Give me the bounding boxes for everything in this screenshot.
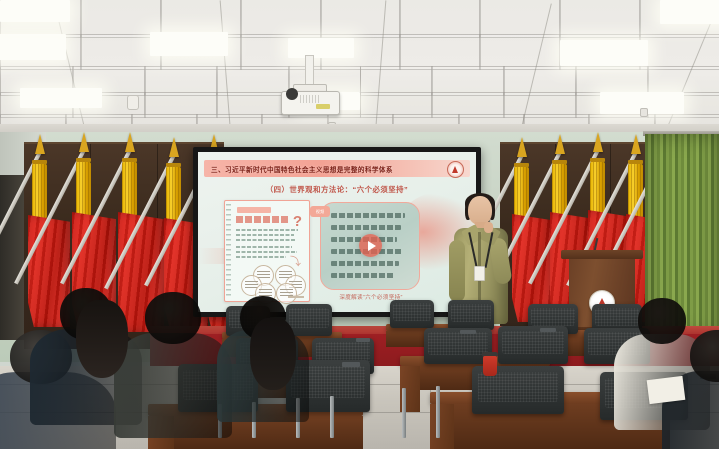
slide-header-bar: 三、习近平新时代中国特色社会主义思想是完整的科学体系 xyxy=(204,160,470,177)
notebook-credit xyxy=(288,296,304,298)
flag-spear-finial-icon xyxy=(79,132,89,152)
flag-spear-finial-icon xyxy=(631,134,641,154)
ceiling-tile xyxy=(479,34,561,70)
ceiling-light-panel xyxy=(660,0,719,24)
institution-emblem-icon xyxy=(447,161,464,178)
ceiling-light-panel xyxy=(0,0,70,22)
ceiling-tile xyxy=(399,0,481,38)
ceiling-light-panel xyxy=(150,32,228,56)
ceiling-light-panel xyxy=(0,34,66,60)
person-long-hair xyxy=(76,300,128,378)
slide-subtitle: （四）世界观和方法论：“六个必须坚持” xyxy=(198,184,476,195)
slide-notebook-graphic: ? ⤵ xyxy=(224,200,310,302)
projector-label xyxy=(316,104,330,109)
chair xyxy=(448,300,494,330)
flag-spear-finial-icon xyxy=(517,137,527,157)
chair-label-tab xyxy=(356,338,370,342)
chair-leg xyxy=(402,388,406,438)
person-torso xyxy=(114,333,232,438)
flag-gold-tassel xyxy=(590,162,605,218)
white-paper-sheet xyxy=(647,376,686,404)
ceiling-light-panel xyxy=(288,38,354,58)
ceiling-tile xyxy=(399,34,481,70)
play-icon[interactable] xyxy=(359,234,382,257)
projection-screen-frame: 三、习近平新时代中国特色社会主义思想是完整的科学体系 （四）世界观和方法论：“六… xyxy=(193,147,481,317)
notebook-tag xyxy=(237,207,271,213)
sprinkler-head-icon xyxy=(640,108,648,117)
chair-label-tab xyxy=(540,328,556,332)
flag-spear-finial-icon xyxy=(35,134,45,154)
speaker-head xyxy=(468,196,492,225)
flag-gold-tassel xyxy=(32,164,47,220)
slide-title: 三、习近平新时代中国特色社会主义思想是完整的科学体系 xyxy=(204,164,393,174)
flag-spear-finial-icon xyxy=(555,134,565,154)
presentation-slide: 三、习近平新时代中国特色社会主义思想是完整的科学体系 （四）世界观和方法论：“六… xyxy=(198,152,476,312)
person-head xyxy=(145,292,201,344)
chair-leg xyxy=(436,386,440,438)
chair-label-tab xyxy=(342,362,360,367)
question-mark-icon: ? xyxy=(293,213,302,230)
speaker-hand xyxy=(484,222,493,233)
slide-video-player[interactable] xyxy=(320,202,420,290)
ceiling-light-panel xyxy=(560,40,648,66)
projector-vent xyxy=(300,95,320,103)
red-paper-cup xyxy=(483,356,497,376)
projector-lens-icon xyxy=(286,88,298,100)
id-badge xyxy=(474,266,485,281)
flag-gold-tassel xyxy=(76,162,91,218)
lecture-hall-photo: 三、习近平新时代中国特色社会主义思想是完整的科学体系 （四）世界观和方法论：“六… xyxy=(0,0,719,449)
person-head xyxy=(638,298,686,344)
podium-top xyxy=(561,250,643,259)
chair xyxy=(424,328,492,364)
ceiling-tile xyxy=(639,34,719,70)
flag-spear-finial-icon xyxy=(169,137,179,157)
ceiling-light-panel xyxy=(20,88,102,108)
video-badge: 视频 xyxy=(310,206,330,217)
chair-label-tab xyxy=(460,330,476,334)
smoke-detector-icon xyxy=(127,95,139,110)
flag-spear-finial-icon xyxy=(593,132,603,152)
desk-side-panel xyxy=(430,404,454,449)
ceiling-tile xyxy=(479,0,561,38)
chair-leg xyxy=(330,396,334,438)
notebook-heading xyxy=(236,216,288,223)
flag-spear-finial-icon xyxy=(125,132,135,152)
ceiling-tile xyxy=(240,0,322,38)
ceiling-tile xyxy=(559,0,641,38)
notebook-spiral-icon xyxy=(226,204,231,298)
chair xyxy=(390,300,434,328)
flag-gold-tassel xyxy=(122,162,137,218)
projection-screen: 三、习近平新时代中国特色社会主义思想是完整的科学体系 （四）世界观和方法论：“六… xyxy=(198,152,476,312)
chair xyxy=(498,326,568,364)
speaker-left-arm xyxy=(449,240,465,302)
ceiling xyxy=(0,0,719,132)
ceiling-tile xyxy=(320,0,402,38)
person-long-hair xyxy=(250,318,296,390)
